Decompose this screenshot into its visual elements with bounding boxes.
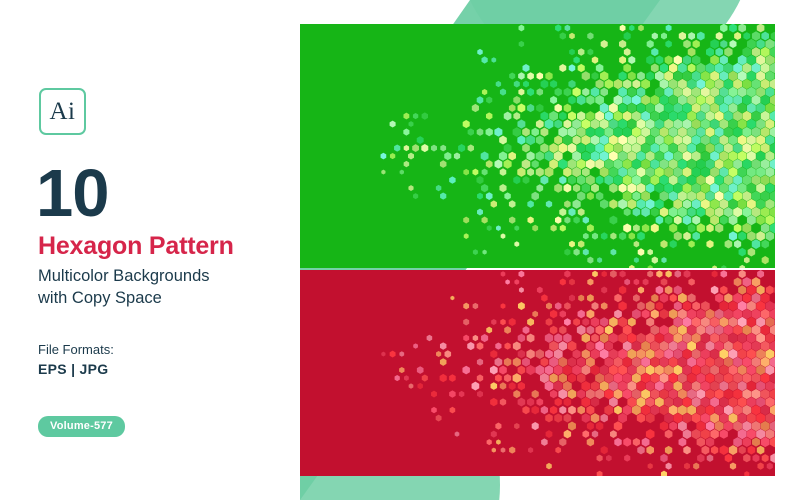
info-panel: Ai 10 Hexagon Pattern Multicolor Backgro… xyxy=(0,0,300,500)
file-formats-label: File Formats: xyxy=(38,342,114,357)
adobe-illustrator-icon: Ai xyxy=(39,88,86,135)
subtitle-line-2: with Copy Space xyxy=(38,288,288,310)
volume-badge: Volume-577 xyxy=(38,416,125,437)
poster-canvas: Ai 10 Hexagon Pattern Multicolor Backgro… xyxy=(0,0,800,500)
green-hexagon-pattern xyxy=(300,24,775,268)
page-subtitle: Multicolor Backgrounds with Copy Space xyxy=(38,266,288,310)
red-hexagon-preview xyxy=(300,270,775,476)
red-hexagon-pattern xyxy=(300,270,775,476)
subtitle-line-1: Multicolor Backgrounds xyxy=(38,266,288,288)
ai-badge-label: Ai xyxy=(50,99,76,124)
item-count: 10 xyxy=(36,160,109,227)
page-title: Hexagon Pattern xyxy=(38,233,234,261)
file-formats-value: EPS | JPG xyxy=(38,361,108,377)
green-hexagon-preview xyxy=(300,24,775,268)
